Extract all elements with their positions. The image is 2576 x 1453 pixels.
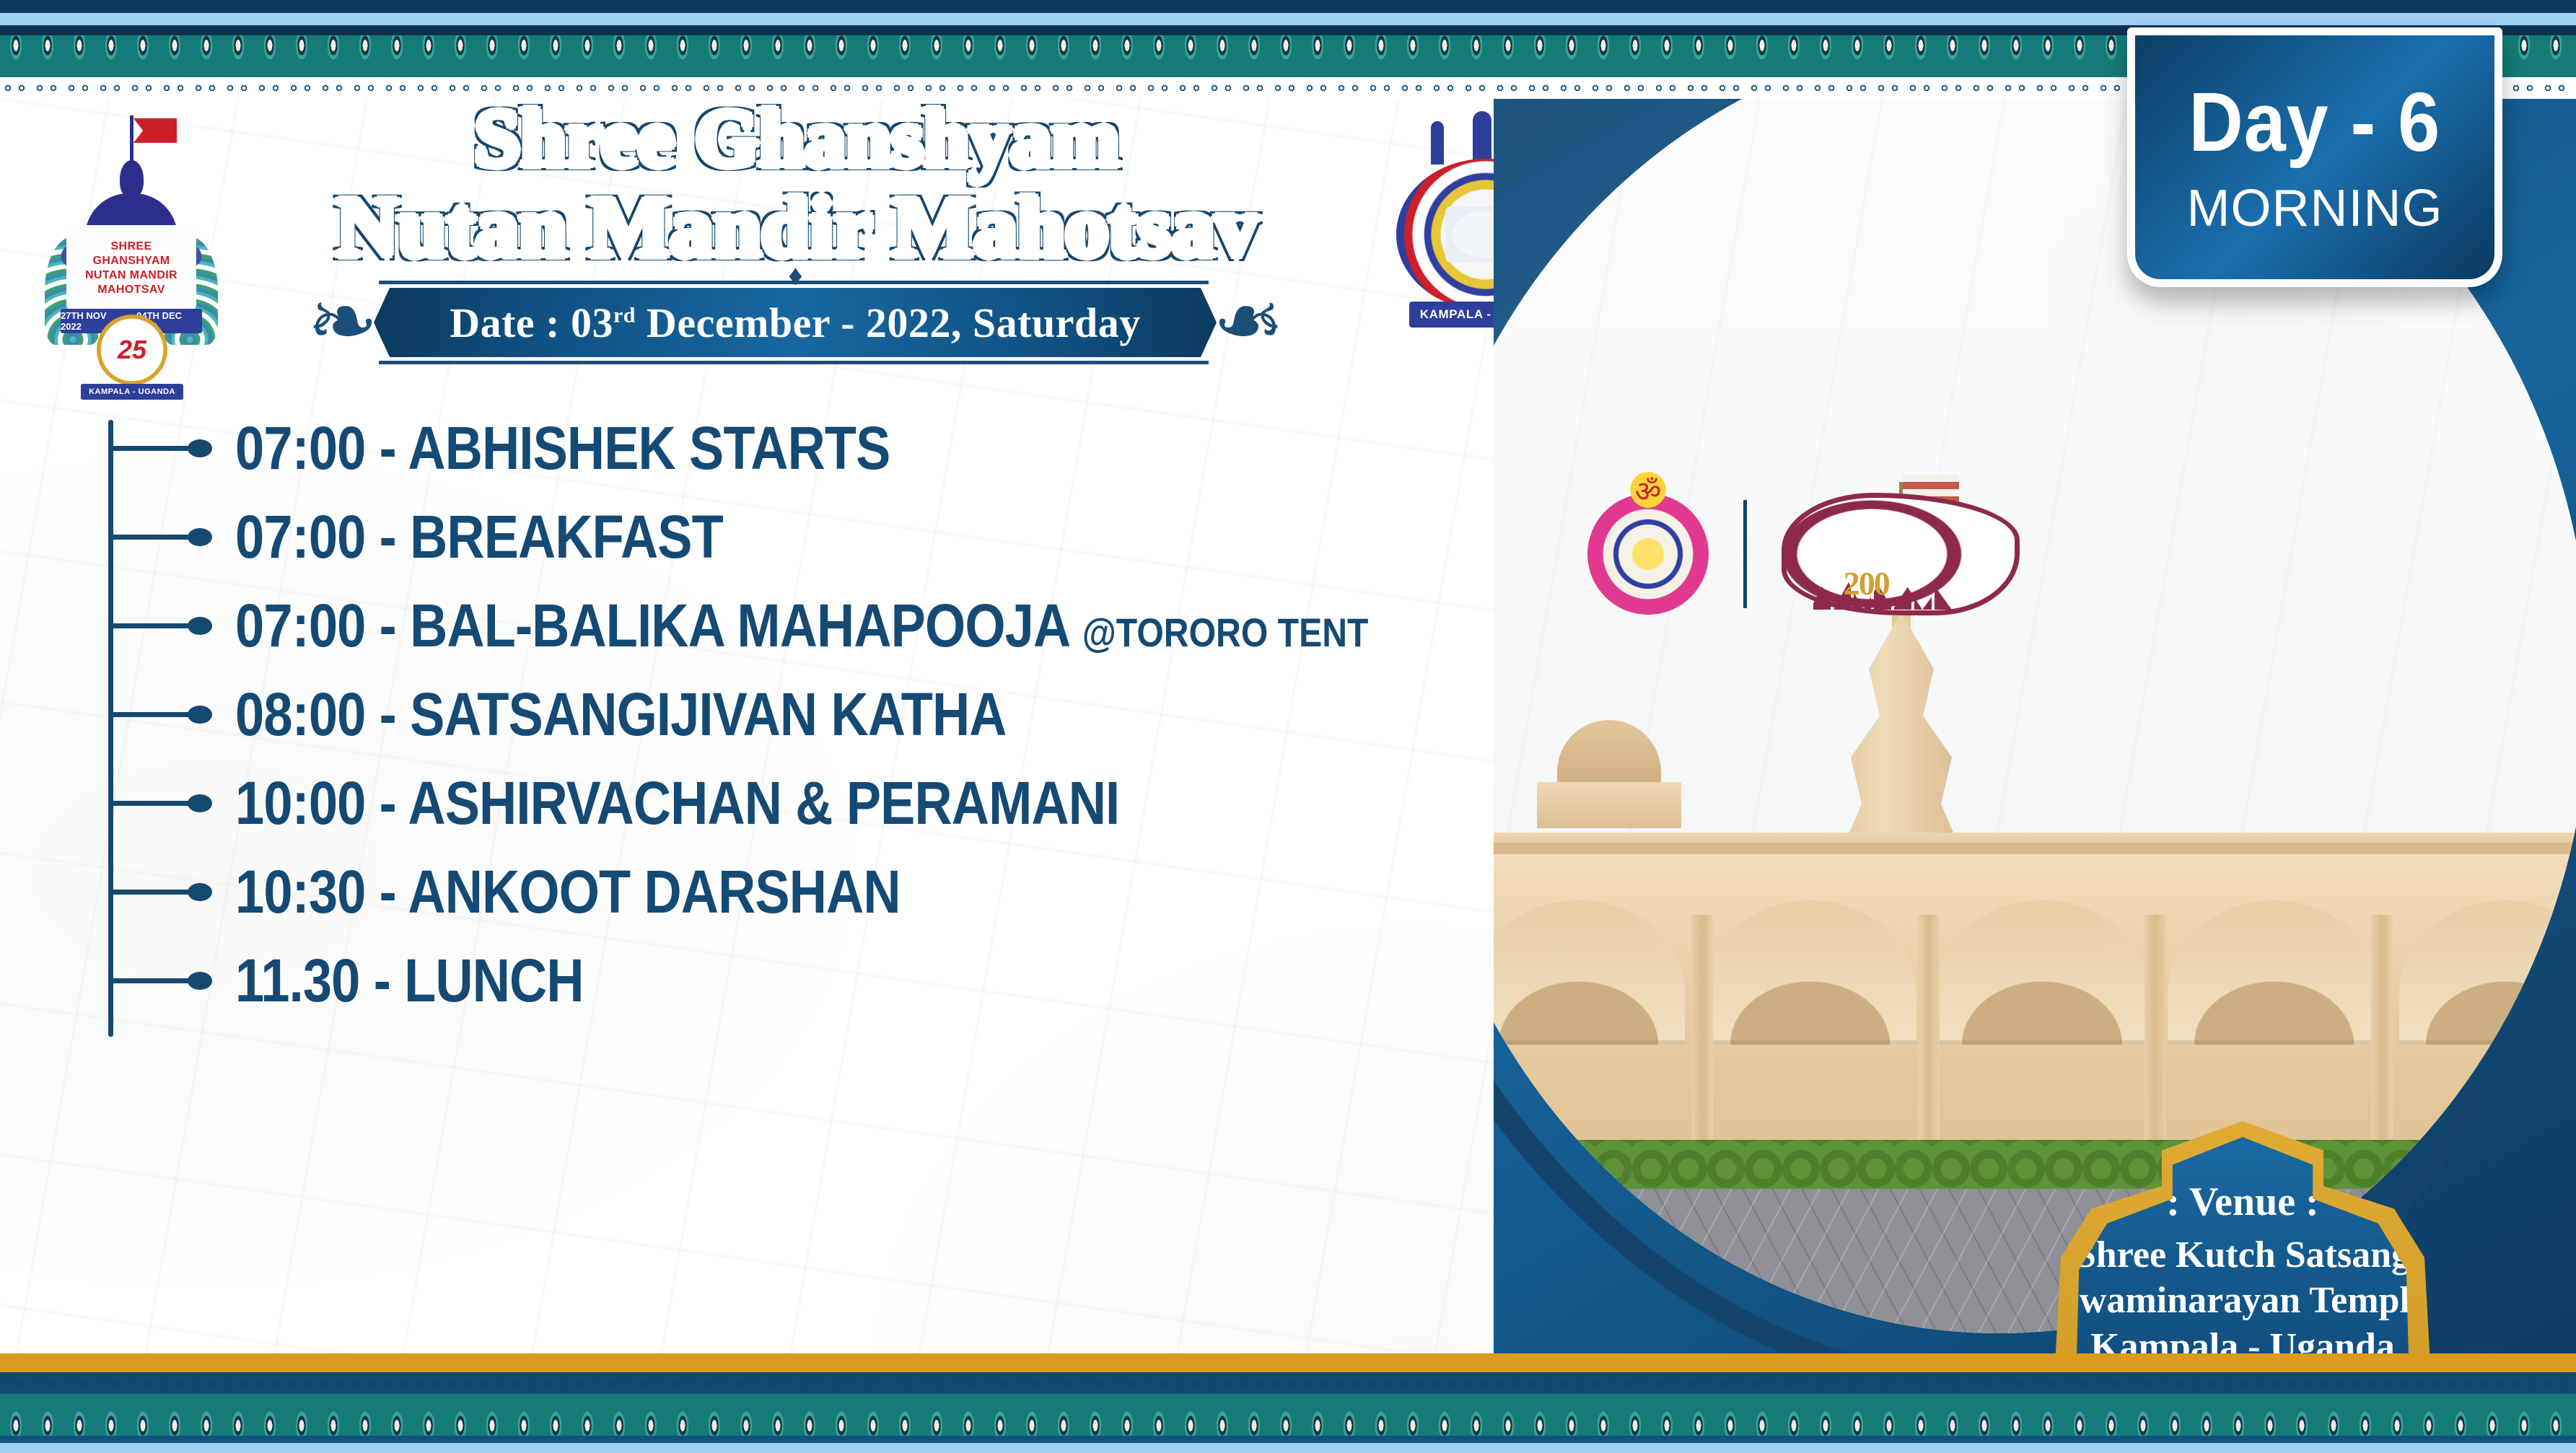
schedule-bullet-icon: [108, 890, 202, 895]
secondary-logo-row: [1587, 482, 2107, 626]
schedule-item-text: 07:00 - BAL-BALIKA MAHAPOOJA @TORORO TEN…: [235, 591, 1368, 661]
mahotsav-logo-nameplate: SHREE GHANSHYAM NUTAN MANDIR MAHOTSAV: [66, 225, 196, 312]
chhatri-dome-icon: [1557, 720, 1661, 786]
day-number-label: Day - 6: [2189, 80, 2441, 164]
schedule-activity: ABHISHEK STARTS: [408, 414, 890, 482]
schedule-time: 10:30: [235, 858, 365, 926]
schedule-time: 11.30: [235, 947, 359, 1014]
venue-label: : Venue :: [2166, 1179, 2319, 1225]
chhatri-platform: [1537, 782, 1681, 828]
temple-column: [1918, 915, 1940, 1153]
schedule-time: 07:00: [235, 503, 365, 571]
title-line-1: Shree Ghanshyam: [285, 97, 1310, 180]
schedule-item-text: 10:30 - ANKOOT DARSHAN: [235, 857, 901, 927]
schedule-separator: -: [380, 680, 396, 748]
schedule-time: 07:00: [235, 414, 365, 482]
date-banner-bar: Date : 03rd December - 2022, Saturday: [374, 288, 1217, 357]
schedule-item-text: 07:00 - BREAKFAST: [235, 502, 723, 572]
schedule-item: 11.30 - LUNCH: [101, 936, 1472, 1025]
temple-column: [1691, 915, 1713, 1153]
schedule-activity: ASHIRVACHAN & PERAMANI: [408, 769, 1119, 837]
schedule-bullet-icon: [108, 801, 202, 806]
session-label: MORNING: [2187, 183, 2443, 234]
schedule-bullet-icon: [108, 535, 202, 540]
schedule-separator: -: [374, 947, 390, 1014]
logo-name-line-4: MAHOTSAV: [97, 283, 165, 297]
day-session-badge: Day - 6 MORNING: [2127, 27, 2502, 287]
logo-location-ribbon: KAMPALA - UGANDA: [81, 384, 183, 400]
schedule-item-text: 07:00 - ABHISHEK STARTS: [235, 413, 890, 483]
event-schedule-banner: SHREE GHANSHYAM NUTAN MANDIR MAHOTSAV 27…: [0, 0, 2576, 1453]
date-frame-bottom-rule: [379, 361, 1209, 364]
schedule-activity: SATSANGIJIVAN KATHA: [410, 680, 1006, 748]
event-date-text: Date : 03rd December - 2022, Saturday: [450, 299, 1141, 347]
schedule-time: 08:00: [235, 680, 365, 748]
schedule-bullet-icon: [108, 712, 202, 717]
bottom-decorative-border: [0, 1353, 2576, 1453]
spiral-motif-pattern-bottom: [0, 1372, 2576, 1394]
border-stripe-gold: [0, 1353, 2576, 1372]
border-stripe-navy: [0, 0, 2576, 13]
venue-line-1: Shree Kutch Satsang: [2075, 1232, 2410, 1278]
logo-name-line-2: GHANSHYAM: [92, 254, 170, 268]
schedule-item: 07:00 - BAL-BALIKA MAHAPOOJA @TORORO TEN…: [101, 581, 1472, 670]
schedule-item: 07:00 - ABHISHEK STARTS: [101, 404, 1472, 493]
swaminarayan-mandir-bhuj-emblem-icon: [1587, 493, 1709, 615]
schedule-separator: -: [380, 592, 396, 659]
temple-column: [2371, 915, 2393, 1153]
left-content-panel: SHREE GHANSHYAM NUTAN MANDIR MAHOTSAV 27…: [0, 76, 1573, 1346]
peacock-feather-pattern-bottom: [0, 1394, 2576, 1436]
schedule-item: 07:00 - BREAKFAST: [101, 493, 1472, 581]
schedule-separator: -: [380, 858, 396, 926]
logo-name-line-1: SHREE: [110, 240, 152, 254]
border-stripe-mid-blue: [0, 1436, 2576, 1443]
date-prefix: Date : 03: [450, 299, 613, 346]
schedule-bullet-icon: [108, 446, 202, 451]
schedule-separator: -: [380, 503, 396, 571]
schedule-item: 10:30 - ANKOOT DARSHAN: [101, 848, 1472, 936]
schedule-bullet-icon: [108, 978, 202, 983]
anniversary-seal-icon: 25: [97, 315, 167, 385]
schedule-item-text: 08:00 - SATSANGIJIVAN KATHA: [235, 680, 1007, 750]
schedule-activity: BAL-BALIKA MAHAPOOJA: [410, 592, 1069, 659]
schedule-item: 10:00 - ASHIRVACHAN & PERAMANI: [101, 759, 1472, 848]
schedule-activity: LUNCH: [404, 947, 584, 1014]
title-line-2: Nutan Mandir Mahotsav: [285, 183, 1310, 271]
schedule-time: 07:00: [235, 592, 365, 659]
schedule-time: 10:00: [235, 769, 365, 837]
border-stripe-light-blue-bottom: [0, 1443, 2576, 1453]
temple-columns: [1494, 915, 2576, 1153]
venue-line-2: Swaminarayan Temple: [2059, 1278, 2427, 1323]
temple-column: [2145, 915, 2166, 1153]
schedule-note: @TORORO TENT: [1082, 610, 1369, 655]
border-stripe-light-blue: [0, 13, 2576, 25]
page-title: Shree Ghanshyam Nutan Mandir Mahotsav: [285, 97, 1310, 271]
schedule-separator: -: [380, 414, 396, 482]
date-suffix: December - 2022, Saturday: [636, 299, 1141, 346]
temple-chhatri-pavilion: [1537, 720, 1681, 828]
schedule-activity: ANKOOT DARSHAN: [408, 858, 900, 926]
emblem-spire-left-icon: [1431, 121, 1444, 164]
schedule-item: 08:00 - SATSANGIJIVAN KATHA: [101, 670, 1472, 759]
mahotsav-logo: SHREE GHANSHYAM NUTAN MANDIR MAHOTSAV 27…: [45, 115, 218, 364]
kalash-finial-icon: [120, 160, 144, 198]
schedule-bullet-icon: [108, 623, 202, 628]
red-flag-icon: [133, 118, 177, 143]
date-frame-top-rule: [379, 281, 1209, 284]
schedule-activity: BREAKFAST: [410, 503, 723, 571]
logo-location-text: KAMPALA - UGANDA: [89, 387, 175, 396]
emblem-temple-peaks-icon: [1810, 571, 1958, 610]
schedule-item-text: 11.30 - LUNCH: [235, 946, 584, 1016]
logo-name-line-3: NUTAN MANDIR: [85, 268, 178, 283]
date-plaque: ❧ ❧ ♦ Date : 03rd December - 2022, Satur…: [310, 265, 1281, 380]
narnarayan-dev-bicentenary-emblem-icon: [1782, 493, 2020, 615]
schedule-item-text: 10:00 - ASHIRVACHAN & PERAMANI: [235, 768, 1119, 838]
anniversary-number: 25: [118, 335, 146, 365]
scroll-ornament-right-icon: ❧: [1216, 278, 1281, 367]
date-ordinal: rd: [613, 303, 636, 327]
schedule-list: 07:00 - ABHISHEK STARTS 07:00 - BREAKFAS…: [101, 404, 1472, 1025]
logo-divider: [1743, 500, 1747, 608]
scroll-ornament-left-icon: ❧: [310, 278, 375, 367]
schedule-separator: -: [380, 769, 396, 837]
